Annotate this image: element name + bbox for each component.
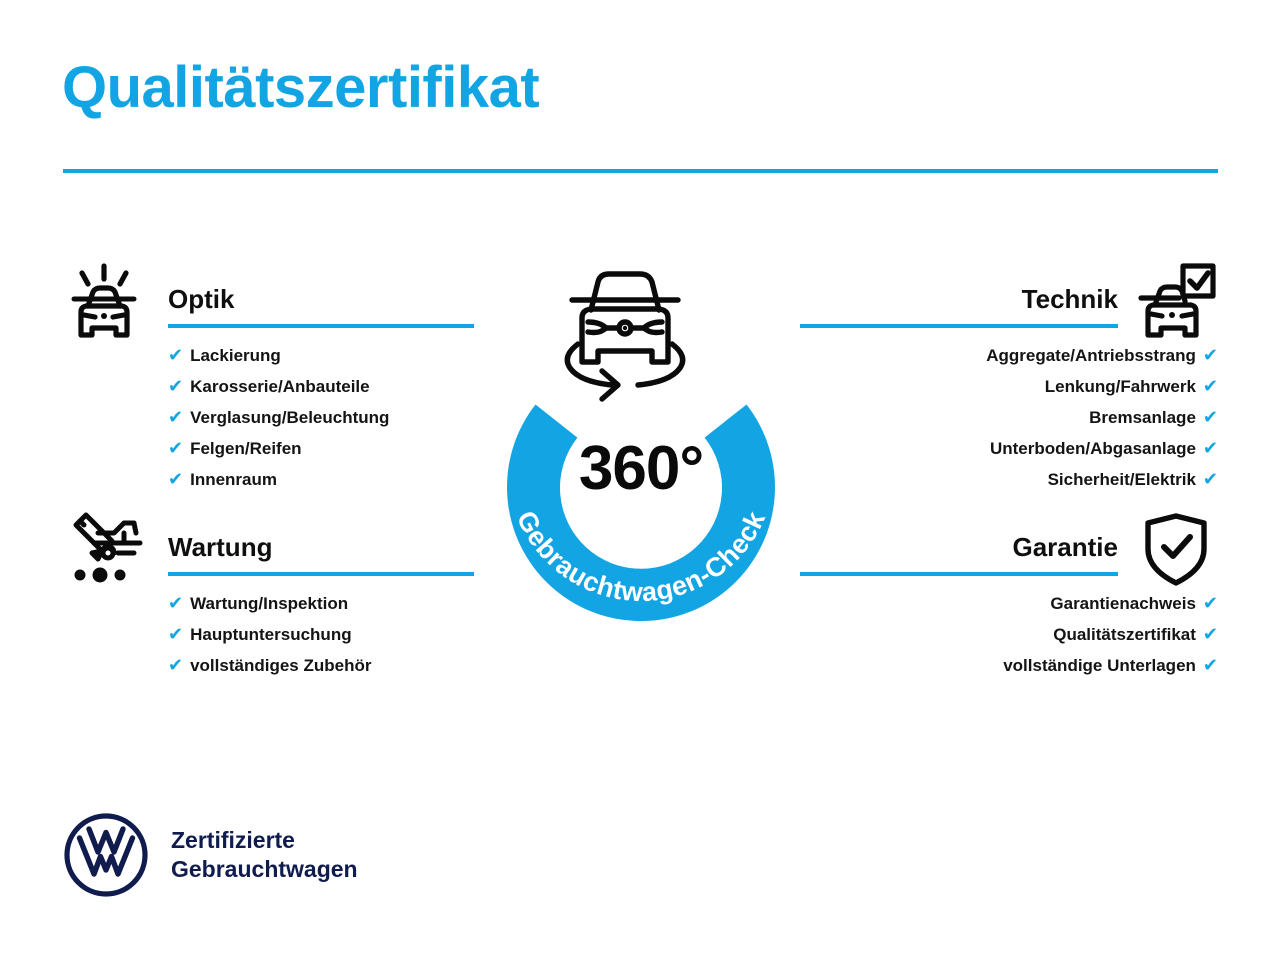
section-technik-list: Aggregate/Antriebsstrang✔ Lenkung/Fahrwe… — [800, 340, 1218, 495]
list-item-label: Verglasung/Beleuchtung — [190, 408, 389, 427]
shield-check-icon — [1134, 510, 1218, 588]
check-icon: ✔ — [168, 624, 183, 644]
section-optik-title: Optik — [168, 262, 474, 312]
check-icon: ✔ — [168, 376, 183, 396]
check-icon: ✔ — [1203, 655, 1218, 675]
list-item-label: Bremsanlage — [1089, 408, 1196, 427]
section-wartung-title: Wartung — [168, 510, 474, 560]
check-icon: ✔ — [168, 407, 183, 427]
list-item: ✔Verglasung/Beleuchtung — [168, 402, 474, 433]
section-garantie-list: Garantienachweis✔ Qualitätszertifikat✔ v… — [800, 588, 1218, 681]
list-item: Garantienachweis✔ — [800, 588, 1218, 619]
section-wartung-list: ✔Wartung/Inspektion ✔Hauptuntersuchung ✔… — [168, 588, 474, 681]
section-garantie-rule — [800, 572, 1118, 576]
list-item-label: Hauptuntersuchung — [190, 625, 352, 644]
section-garantie-title-wrap: Garantie — [800, 510, 1118, 576]
section-garantie-header: Garantie — [800, 510, 1218, 588]
section-technik-header: Technik — [800, 262, 1218, 340]
list-item: Bremsanlage✔ — [800, 402, 1218, 433]
list-item-label: Lackierung — [190, 346, 281, 365]
footer: Zertifizierte Gebrauchtwagen — [63, 812, 358, 898]
list-item-label: Lenkung/Fahrwerk — [1045, 377, 1196, 396]
check-icon: ✔ — [1203, 624, 1218, 644]
list-item-label: Karosserie/Anbauteile — [190, 377, 370, 396]
list-item-label: Wartung/Inspektion — [190, 594, 348, 613]
car-rotate-360-icon — [567, 274, 682, 399]
section-wartung-rule — [168, 572, 474, 576]
list-item-label: Garantienachweis — [1050, 594, 1196, 613]
section-optik: Optik ✔Lackierung ✔Karosserie/Anbauteile… — [62, 262, 474, 495]
list-item: Aggregate/Antriebsstrang✔ — [800, 340, 1218, 371]
list-item-label: Unterboden/Abgasanlage — [990, 439, 1196, 458]
list-item: ✔Felgen/Reifen — [168, 433, 474, 464]
check-icon: ✔ — [1203, 407, 1218, 427]
list-item: ✔Innenraum — [168, 464, 474, 495]
check-icon: ✔ — [1203, 376, 1218, 396]
section-garantie-title: Garantie — [800, 510, 1118, 560]
section-optik-title-wrap: Optik — [168, 262, 474, 328]
section-wartung-title-wrap: Wartung — [168, 510, 474, 576]
section-technik: Technik Aggregate/Antriebsstrang✔ Lenkun… — [800, 262, 1218, 495]
check-icon: ✔ — [168, 593, 183, 613]
check-icon: ✔ — [168, 469, 183, 489]
section-optik-rule — [168, 324, 474, 328]
section-technik-rule — [800, 324, 1118, 328]
check-icon: ✔ — [168, 345, 183, 365]
list-item: ✔Lackierung — [168, 340, 474, 371]
section-optik-list: ✔Lackierung ✔Karosserie/Anbauteile ✔Verg… — [168, 340, 474, 495]
car-checkbox-icon — [1134, 262, 1218, 340]
volkswagen-logo — [63, 812, 149, 898]
list-item-label: Innenraum — [190, 470, 277, 489]
check-icon: ✔ — [168, 438, 183, 458]
section-technik-title: Technik — [800, 262, 1118, 312]
list-item: Sicherheit/Elektrik✔ — [800, 464, 1218, 495]
check-icon: ✔ — [1203, 345, 1218, 365]
car-shine-icon — [62, 262, 146, 340]
list-item-label: Felgen/Reifen — [190, 439, 301, 458]
section-technik-title-wrap: Technik — [800, 262, 1118, 328]
badge-value: 360° — [466, 438, 816, 500]
section-wartung-header: Wartung — [62, 510, 474, 588]
footer-label: Zertifizierte Gebrauchtwagen — [171, 826, 358, 885]
section-optik-header: Optik — [62, 262, 474, 340]
list-item: ✔Hauptuntersuchung — [168, 619, 474, 650]
page-title: Qualitätszertifikat — [62, 56, 539, 120]
section-garantie: Garantie Garantienachweis✔ Qualitätszert… — [800, 510, 1218, 681]
list-item: ✔vollständiges Zubehör — [168, 650, 474, 681]
list-item: vollständige Unterlagen✔ — [800, 650, 1218, 681]
list-item: ✔Karosserie/Anbauteile — [168, 371, 474, 402]
list-item: ✔Wartung/Inspektion — [168, 588, 474, 619]
list-item-label: Sicherheit/Elektrik — [1048, 470, 1196, 489]
car-service-pen-icon — [62, 510, 146, 588]
list-item: Unterboden/Abgasanlage✔ — [800, 433, 1218, 464]
list-item: Qualitätszertifikat✔ — [800, 619, 1218, 650]
list-item-label: Aggregate/Antriebsstrang — [986, 346, 1196, 365]
check-icon: ✔ — [1203, 438, 1218, 458]
check-icon: ✔ — [168, 655, 183, 675]
list-item: Lenkung/Fahrwerk✔ — [800, 371, 1218, 402]
check-icon: ✔ — [1203, 469, 1218, 489]
section-wartung: Wartung ✔Wartung/Inspektion ✔Hauptunters… — [62, 510, 474, 681]
header-divider — [63, 169, 1218, 173]
check-icon: ✔ — [1203, 593, 1218, 613]
gebrauchtwagen-check-badge: Gebrauchtwagen-Check 360° — [466, 252, 816, 632]
list-item-label: Qualitätszertifikat — [1053, 625, 1196, 644]
list-item-label: vollständige Unterlagen — [1003, 656, 1196, 675]
list-item-label: vollständiges Zubehör — [190, 656, 371, 675]
